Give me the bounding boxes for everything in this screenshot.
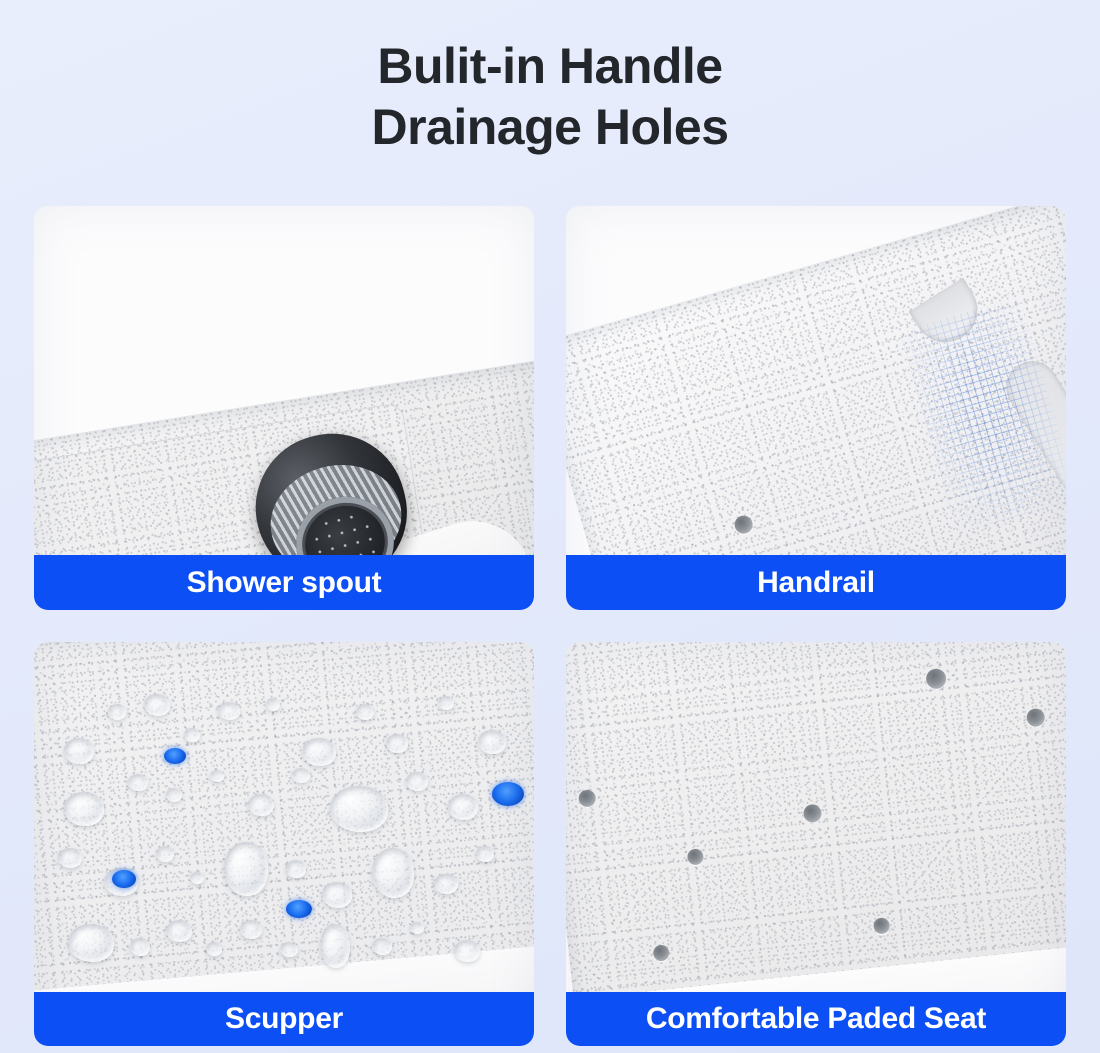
water-droplet — [206, 942, 222, 956]
drainage-hole-highlight — [164, 748, 186, 764]
water-droplet — [286, 860, 306, 878]
water-droplet — [130, 938, 150, 956]
drainage-hole-highlight — [492, 782, 524, 806]
water-droplet — [322, 882, 352, 908]
feature-card-scupper: Scupper — [34, 642, 534, 1046]
caption-shower-spout: Shower spout — [34, 555, 534, 610]
water-droplet — [448, 794, 478, 820]
drainage-hole-highlight — [286, 900, 312, 918]
caption-padded-seat: Comfortable Paded Seat — [566, 992, 1066, 1046]
water-droplet-large — [372, 848, 414, 898]
photo-handrail — [566, 206, 1066, 610]
photo-shower-spout — [34, 206, 534, 610]
water-droplet — [58, 848, 82, 868]
water-droplet — [476, 846, 494, 862]
water-droplet — [292, 768, 310, 783]
product-feature-infographic: Bulit-in Handle Drainage Holes — [0, 0, 1100, 1053]
water-droplet-large — [68, 924, 114, 962]
water-droplet — [184, 728, 200, 742]
feature-card-shower-spout: Shower spout — [34, 206, 534, 610]
water-droplet — [280, 942, 298, 957]
photo-scupper — [34, 642, 534, 1046]
water-droplet — [190, 872, 204, 884]
caption-handrail: Handrail — [566, 555, 1066, 610]
water-droplet — [434, 874, 458, 894]
water-droplet — [166, 920, 192, 942]
water-droplet-large — [224, 842, 268, 896]
water-droplet — [438, 696, 454, 710]
water-droplet — [248, 794, 274, 816]
water-droplet — [128, 774, 148, 791]
water-droplet — [320, 924, 350, 968]
water-droplet — [454, 940, 480, 962]
water-droplet — [218, 702, 240, 720]
water-droplet — [64, 792, 104, 826]
feature-card-padded-seat: Comfortable Paded Seat — [566, 642, 1066, 1046]
water-droplet — [372, 938, 392, 955]
water-droplet — [210, 770, 224, 782]
water-droplet — [144, 694, 170, 716]
water-droplet — [410, 922, 424, 934]
water-droplet — [64, 738, 94, 764]
water-droplet — [386, 734, 408, 753]
water-droplet — [166, 788, 182, 802]
water-droplet — [240, 920, 262, 939]
headline-line-1: Bulit-in Handle — [377, 38, 722, 94]
page-title: Bulit-in Handle Drainage Holes — [0, 0, 1100, 158]
headline-line-2: Drainage Holes — [0, 97, 1100, 158]
water-droplet — [406, 772, 428, 791]
water-droplet — [302, 738, 336, 766]
water-droplet — [108, 704, 126, 720]
water-droplet — [156, 846, 174, 862]
water-droplet — [266, 698, 280, 711]
water-droplet — [478, 730, 506, 754]
photo-padded-seat — [566, 642, 1066, 1046]
drainage-hole-highlight — [112, 870, 136, 888]
feature-card-grid: Shower spout Handrail — [34, 206, 1066, 1046]
feature-card-handrail: Handrail — [566, 206, 1066, 610]
caption-scupper: Scupper — [34, 992, 534, 1046]
water-droplet — [356, 704, 374, 720]
water-droplet-large — [330, 786, 388, 832]
